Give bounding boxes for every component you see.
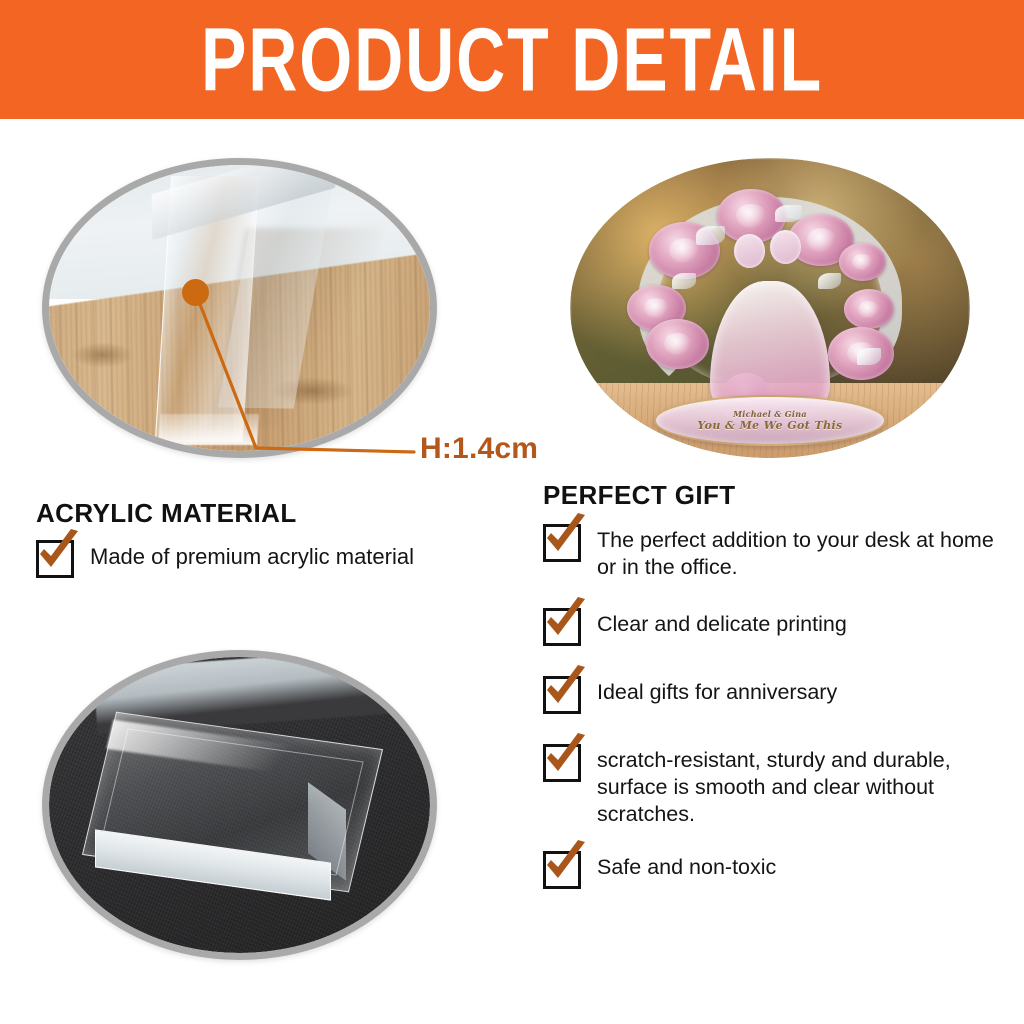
height-dimension-label: H:1.4cm xyxy=(420,432,538,466)
photo-clip xyxy=(49,657,430,953)
acrylic-block-photo xyxy=(42,650,437,960)
checkmark-icon xyxy=(543,744,581,782)
section-heading-perfect-gift: PERFECT GIFT xyxy=(543,480,736,511)
crystal-leaf xyxy=(857,348,881,365)
page-title: PRODUCT DETAIL xyxy=(201,14,823,104)
engraved-names: Michael & Gina xyxy=(733,409,807,419)
header-banner: PRODUCT DETAIL xyxy=(0,0,1024,119)
feature-list-perfect-gift: The perfect addition to your desk at hom… xyxy=(543,522,1013,889)
figurine-head xyxy=(734,234,765,268)
rose-flower xyxy=(646,319,709,369)
list-item-label: Made of premium acrylic material xyxy=(90,538,414,570)
engraved-message: You & Me We Got This xyxy=(697,419,842,432)
list-item: Made of premium acrylic material xyxy=(36,538,526,578)
wood-grain-knot xyxy=(72,342,133,368)
checkmark-icon xyxy=(543,676,581,714)
photo-clip xyxy=(49,165,430,451)
section-heading-acrylic-material: ACRYLIC MATERIAL xyxy=(36,498,297,529)
engraved-base: Michael & Gina You & Me We Got This xyxy=(654,395,886,446)
feature-list-acrylic-material: Made of premium acrylic material xyxy=(36,538,526,596)
checkmark-icon xyxy=(543,524,581,562)
list-item: The perfect addition to your desk at hom… xyxy=(543,522,1013,580)
list-item: Clear and delicate printing xyxy=(543,606,1013,646)
rose-flower xyxy=(839,243,887,281)
checkmark-icon xyxy=(543,851,581,889)
list-item: scratch-resistant, sturdy and durable, s… xyxy=(543,742,1013,827)
acrylic-base-highlight xyxy=(158,414,259,445)
product-detail-page: PRODUCT DETAIL H:1.4cm xyxy=(0,0,1024,1024)
list-item-label: scratch-resistant, sturdy and durable, s… xyxy=(597,742,1013,827)
wood-table-scene xyxy=(49,165,430,451)
checkmark-icon xyxy=(543,608,581,646)
list-item-label: Ideal gifts for anniversary xyxy=(597,674,837,706)
checkmark-icon xyxy=(36,540,74,578)
list-item-label: Safe and non-toxic xyxy=(597,849,776,881)
list-item-label: The perfect addition to your desk at hom… xyxy=(597,522,1013,580)
figurine-photo: Michael & Gina You & Me We Got This xyxy=(570,158,970,458)
callout-dot-marker xyxy=(182,279,209,306)
acrylic-edge-photo xyxy=(42,158,437,458)
figurine-head xyxy=(770,230,801,264)
crystal-leaf xyxy=(775,205,801,222)
list-item-label: Clear and delicate printing xyxy=(597,606,847,638)
photo-clip: Michael & Gina You & Me We Got This xyxy=(570,158,970,458)
list-item: Safe and non-toxic xyxy=(543,849,1013,889)
list-item: Ideal gifts for anniversary xyxy=(543,674,1013,714)
